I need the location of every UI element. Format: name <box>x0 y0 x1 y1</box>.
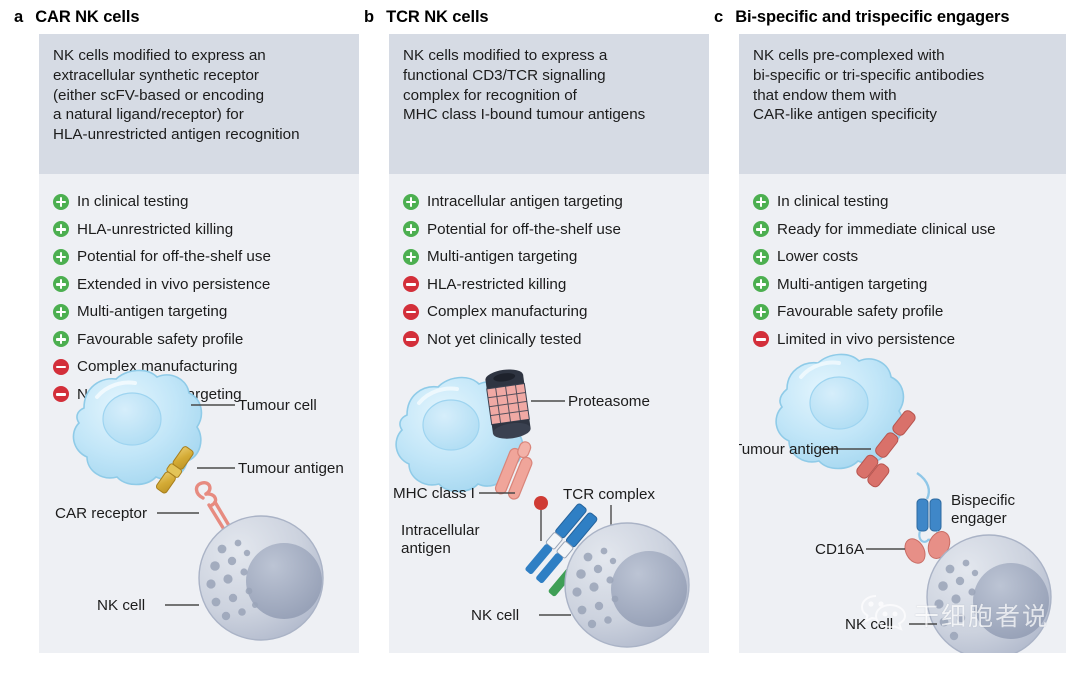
plus-icon <box>53 194 69 210</box>
minus-icon <box>403 276 419 292</box>
panel-b-bullet-list: Intracellular antigen targeting Potentia… <box>389 174 709 353</box>
panel-b-diagram: Proteasome MHC class I Intracellular ant… <box>389 353 709 653</box>
plus-icon <box>53 331 69 347</box>
plus-icon <box>403 221 419 237</box>
plus-icon <box>753 276 769 292</box>
panel-a-header: a CAR NK cells <box>14 0 360 34</box>
label-tumour-antigen: Tumour antigen <box>238 460 344 477</box>
list-item: Multi-antigen targeting <box>753 271 1066 299</box>
list-item: Extended in vivo persistence <box>53 271 359 299</box>
plus-icon <box>753 221 769 237</box>
list-item: In clinical testing <box>53 188 359 216</box>
label-proteasome: Proteasome <box>568 393 650 410</box>
list-item: Multi-antigen targeting <box>53 298 359 326</box>
list-item: Favourable safety profile <box>753 298 1066 326</box>
panel-a: a CAR NK cells NK cells modified to expr… <box>14 0 360 674</box>
list-item: HLA-restricted killing <box>403 271 709 299</box>
list-item-label: In clinical testing <box>777 193 888 210</box>
list-item-label: Multi-antigen targeting <box>427 248 577 265</box>
list-item: Lower costs <box>753 243 1066 271</box>
list-item-label: Potential for off-the-shelf use <box>427 221 621 238</box>
panel-a-letter: a <box>14 9 23 26</box>
panel-b-header: b TCR NK cells <box>364 0 710 34</box>
label-mhc-class-i: MHC class I <box>393 485 475 502</box>
list-item: Limited in vivo persistence <box>753 326 1066 354</box>
panel-c-title: Bi-specific and trispecific engagers <box>735 9 1009 26</box>
label-nk-cell: NK cell <box>845 616 893 633</box>
list-item: In clinical testing <box>753 188 1066 216</box>
list-item-label: Intracellular antigen targeting <box>427 193 623 210</box>
label-car-receptor: CAR receptor <box>55 505 147 522</box>
nk-cell-shape <box>565 523 689 647</box>
label-bispecific-engager-line1: Bispecific <box>951 492 1016 509</box>
list-item-label: Multi-antigen targeting <box>77 303 227 320</box>
label-tcr-complex: TCR complex <box>563 486 655 503</box>
label-tumour-cell: Tumour cell <box>238 397 317 414</box>
figure-root: a CAR NK cells NK cells modified to expr… <box>0 0 1080 674</box>
list-item: Complex manufacturing <box>403 298 709 326</box>
plus-icon <box>53 249 69 265</box>
engager-linker <box>917 473 929 499</box>
list-item: Not yet clinically tested <box>403 326 709 354</box>
list-item-label: Lower costs <box>777 248 858 265</box>
plus-icon <box>753 194 769 210</box>
list-item-label: Potential for off-the-shelf use <box>77 248 271 265</box>
plus-icon <box>753 249 769 265</box>
minus-icon <box>403 331 419 347</box>
list-item-label: Limited in vivo persistence <box>777 331 955 348</box>
plus-icon <box>403 194 419 210</box>
panel-a-title: CAR NK cells <box>35 9 139 26</box>
list-item-label: In clinical testing <box>77 193 188 210</box>
minus-icon <box>753 331 769 347</box>
list-item-label: Complex manufacturing <box>427 303 587 320</box>
panel-a-diagram: Tumour cell Tumour antigen <box>39 353 359 653</box>
list-item: HLA-unrestricted killing <box>53 216 359 244</box>
panel-b: b TCR NK cells NK cells modified to expr… <box>364 0 710 674</box>
label-intracellular-antigen-line2: antigen <box>401 540 451 557</box>
panel-b-description: NK cells modified to express a functiona… <box>389 34 709 174</box>
label-cd16a: CD16A <box>815 541 865 558</box>
list-item: Intracellular antigen targeting <box>403 188 709 216</box>
list-item-label: Extended in vivo persistence <box>77 276 270 293</box>
list-item-label: HLA-unrestricted killing <box>77 221 233 238</box>
panel-a-description: NK cells modified to express an extracel… <box>39 34 359 174</box>
plus-icon <box>753 304 769 320</box>
panel-c-card: NK cells pre-complexed with bi-specific … <box>739 34 1066 653</box>
plus-icon <box>53 304 69 320</box>
plus-icon <box>53 276 69 292</box>
list-item-label: Favourable safety profile <box>77 331 243 348</box>
list-item-label: Multi-antigen targeting <box>777 276 927 293</box>
list-item: Ready for immediate clinical use <box>753 216 1066 244</box>
list-item-label: Not yet clinically tested <box>427 331 581 348</box>
list-item-label: Favourable safety profile <box>777 303 943 320</box>
label-bispecific-engager-line2: engager <box>951 510 1007 527</box>
label-nk-cell: NK cell <box>97 597 145 614</box>
panel-c-bullet-list: In clinical testing Ready for immediate … <box>739 174 1066 353</box>
list-item: Potential for off-the-shelf use <box>403 216 709 244</box>
nk-cell-shape <box>199 516 323 640</box>
panel-b-card: NK cells modified to express a functiona… <box>389 34 709 653</box>
plus-icon <box>403 249 419 265</box>
panel-c-diagram: Tumour antigen Bispecific engager <box>739 353 1066 653</box>
list-item: Favourable safety profile <box>53 326 359 354</box>
panel-a-card: NK cells modified to express an extracel… <box>39 34 359 653</box>
list-item-label: HLA-restricted killing <box>427 276 566 293</box>
label-tumour-antigen: Tumour antigen <box>739 441 839 458</box>
minus-icon <box>403 304 419 320</box>
label-nk-cell: NK cell <box>471 607 519 624</box>
list-item-label: Ready for immediate clinical use <box>777 221 996 238</box>
car-receptor-shape <box>196 483 231 531</box>
intracellular-antigen-shape <box>534 496 548 510</box>
list-item: Potential for off-the-shelf use <box>53 243 359 271</box>
panel-b-title: TCR NK cells <box>386 9 488 26</box>
label-intracellular-antigen-line1: Intracellular <box>401 522 480 539</box>
list-item: Multi-antigen targeting <box>403 243 709 271</box>
panel-b-letter: b <box>364 9 374 26</box>
panel-c-description: NK cells pre-complexed with bi-specific … <box>739 34 1066 174</box>
panel-c: c Bi-specific and trispecific engagers N… <box>714 0 1066 674</box>
nk-cell-shape <box>927 535 1051 653</box>
panel-c-letter: c <box>714 9 723 26</box>
plus-icon <box>53 221 69 237</box>
panel-c-header: c Bi-specific and trispecific engagers <box>714 0 1066 34</box>
